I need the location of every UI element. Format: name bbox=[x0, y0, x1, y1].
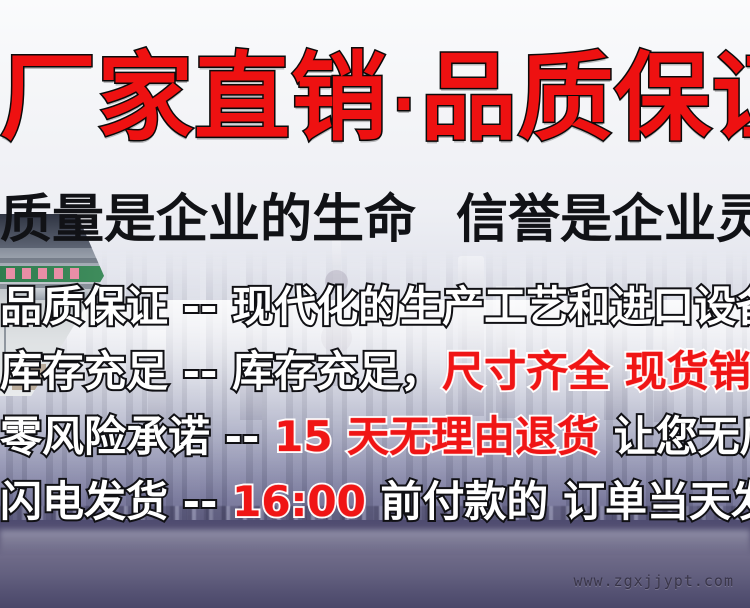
feature-line-stock: 库存充足 -- 库存充足，尺寸齐全 现货销售 bbox=[0, 351, 750, 416]
promo-banner: 厂家直销·品质保证 质量是企业的生命信誉是企业灵魂 品质保证 -- 现代化的生产… bbox=[0, 0, 750, 608]
factory-signboard bbox=[0, 266, 104, 282]
headline: 厂家直销·品质保证 bbox=[0, 48, 750, 149]
feature-text-accent: 15 天无理由退货 bbox=[274, 412, 599, 461]
feature-line-zero-risk: 零风险承诺 -- 15 天无理由退货 让您无后顾之忧 bbox=[0, 416, 750, 481]
feature-text-accent: 16:00 bbox=[232, 477, 366, 526]
feature-text: 零风险承诺 -- bbox=[0, 412, 274, 461]
feature-text: 库存充足 -- 库存充足， bbox=[0, 347, 442, 396]
feature-text: 闪电发货 -- bbox=[0, 477, 232, 526]
site-watermark: www.zgxjjypt.com bbox=[574, 572, 735, 590]
feature-list: 品质保证 -- 现代化的生产工艺和进口设备 库存充足 -- 库存充足，尺寸齐全 … bbox=[0, 286, 750, 546]
subtitle-right: 信誉是企业灵魂 bbox=[456, 190, 750, 250]
headline-right: 品质保证 bbox=[421, 42, 750, 154]
feature-text: 品质保证 -- 现代化的生产工艺和进口设备 bbox=[0, 282, 750, 331]
headline-separator-dot: · bbox=[388, 68, 421, 141]
feature-line-fast-shipping: 闪电发货 -- 16:00 前付款的 订单当天发货 bbox=[0, 481, 750, 546]
feature-text: 前付款的 订单当天发货 bbox=[366, 477, 750, 526]
feature-text: 让您无后顾之忧 bbox=[599, 412, 750, 461]
feature-text-accent: 尺寸齐全 现货销售 bbox=[442, 347, 750, 396]
feature-line-quality: 品质保证 -- 现代化的生产工艺和进口设备 bbox=[0, 286, 750, 351]
factory-shelf-upper bbox=[0, 258, 104, 263]
headline-left: 厂家直销 bbox=[0, 42, 388, 154]
subtitle: 质量是企业的生命信誉是企业灵魂 bbox=[0, 192, 750, 249]
subtitle-left: 质量是企业的生命 bbox=[0, 190, 416, 250]
